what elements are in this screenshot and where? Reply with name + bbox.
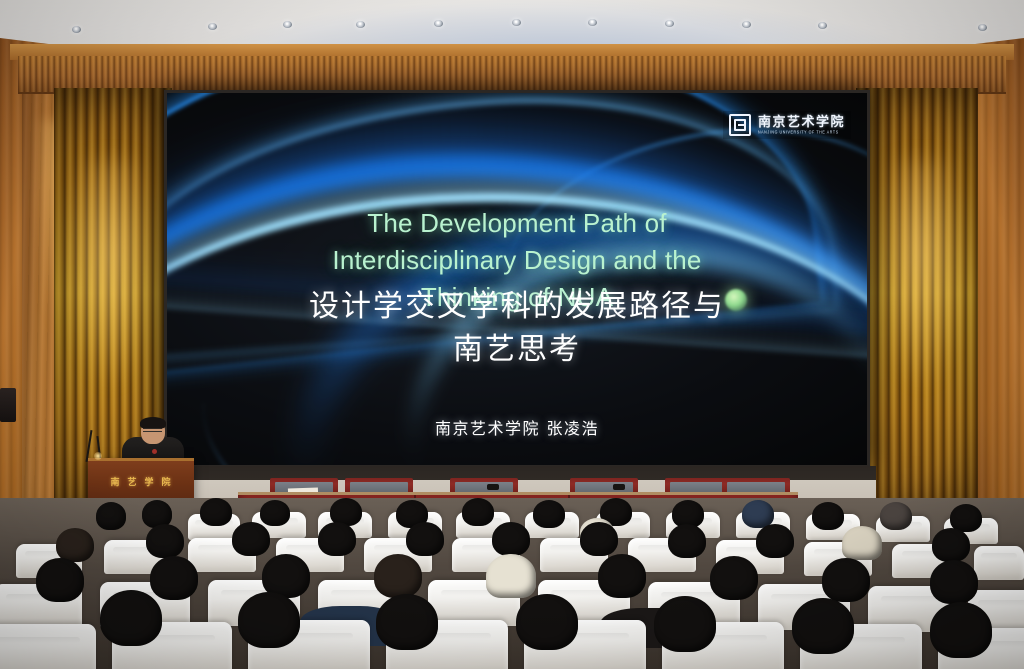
audience-head bbox=[96, 502, 126, 530]
slide-title-en-line: The Development Path of bbox=[167, 205, 867, 242]
slide-title-chinese: 设计学交叉学科的发展路径与 南艺思考 bbox=[167, 285, 867, 371]
audience-head bbox=[932, 528, 970, 562]
presenter-badge bbox=[152, 449, 157, 454]
ceiling-light-icon bbox=[588, 19, 597, 26]
audience-head bbox=[232, 522, 270, 556]
auditorium-scene: 南京艺术学院 NANJING UNIVERSITY OF THE ARTS Th… bbox=[0, 0, 1024, 669]
podium-plate-char: 学 bbox=[145, 475, 155, 488]
slide-presenter-line: 南京艺术学院 张凌浩 bbox=[167, 415, 867, 439]
audience-head bbox=[200, 498, 232, 526]
audience-head bbox=[376, 594, 438, 650]
audience-head bbox=[710, 556, 758, 600]
audience-head-with-cap bbox=[486, 554, 536, 598]
presenter-glasses-icon bbox=[143, 428, 162, 432]
blue-light-streak bbox=[190, 363, 867, 465]
audience-head bbox=[56, 528, 94, 562]
audience-head bbox=[150, 556, 198, 600]
audience-head bbox=[406, 522, 444, 556]
audience-head bbox=[100, 590, 162, 646]
podium-plate-char: 南 bbox=[110, 475, 120, 488]
audience-head bbox=[668, 524, 706, 558]
projection-screen-frame: 南京艺术学院 NANJING UNIVERSITY OF THE ARTS Th… bbox=[164, 90, 870, 468]
podium-nameplate: 南 艺 学 院 bbox=[98, 471, 184, 491]
ceiling-light-icon bbox=[356, 21, 365, 28]
logo-name-en: NANJING UNIVERSITY OF THE ARTS bbox=[758, 131, 845, 136]
ceiling-light-icon bbox=[72, 26, 81, 33]
audience-head bbox=[880, 502, 912, 530]
audience-head bbox=[318, 522, 356, 556]
ceiling-light-icon bbox=[283, 21, 292, 28]
audience-head bbox=[462, 498, 494, 526]
audience-head bbox=[930, 560, 978, 604]
audience-head bbox=[580, 522, 618, 556]
ceiling-light-icon bbox=[434, 20, 443, 27]
slide-university-logo: 南京艺术学院 NANJING UNIVERSITY OF THE ARTS bbox=[723, 111, 851, 139]
ceiling-light-icon bbox=[208, 23, 217, 30]
audience-head-with-cap bbox=[842, 526, 882, 560]
logo-name-cn: 南京艺术学院 bbox=[758, 115, 845, 128]
slide-title-english: The Development Path of Interdisciplinar… bbox=[167, 205, 867, 316]
projection-screen: 南京艺术学院 NANJING UNIVERSITY OF THE ARTS Th… bbox=[167, 93, 867, 465]
ceiling-light-icon bbox=[742, 21, 751, 28]
slide-title-cn-line: 设计学交叉学科的发展路径与 bbox=[167, 285, 867, 328]
audience-head bbox=[146, 524, 184, 558]
stage-curtain-right bbox=[856, 88, 978, 516]
ceiling-light-icon bbox=[978, 24, 987, 31]
audience-head bbox=[516, 594, 578, 650]
audience-head bbox=[598, 554, 646, 598]
green-glow-dot-icon bbox=[725, 289, 747, 311]
audience-head bbox=[374, 554, 422, 598]
audience-seat bbox=[0, 624, 96, 669]
table-microphone-icon bbox=[613, 484, 625, 490]
wall-speaker-icon bbox=[0, 388, 16, 422]
audience-head bbox=[36, 558, 84, 602]
ceiling-light-icon bbox=[512, 19, 521, 26]
audience-area bbox=[0, 498, 1024, 669]
podium-lamp-icon bbox=[94, 452, 102, 460]
audience-head bbox=[260, 500, 290, 526]
audience-head bbox=[654, 596, 716, 652]
blue-light-streak bbox=[167, 304, 867, 465]
audience-head bbox=[238, 592, 300, 648]
audience-head bbox=[812, 502, 844, 530]
slide-title-en-line: Thinking of NUA bbox=[167, 279, 867, 316]
audience-head bbox=[930, 602, 992, 658]
podium-plate-char: 院 bbox=[162, 475, 172, 488]
audience-head bbox=[492, 522, 530, 556]
podium-plate-char: 艺 bbox=[127, 475, 137, 488]
table-microphone-icon bbox=[487, 484, 499, 490]
ceiling-light-icon bbox=[818, 22, 827, 29]
audience-head bbox=[792, 598, 854, 654]
audience-head bbox=[822, 558, 870, 602]
audience-head bbox=[533, 500, 565, 528]
slide-title-en-line: Interdisciplinary Design and the bbox=[167, 242, 867, 279]
audience-head bbox=[756, 524, 794, 558]
nua-emblem-icon bbox=[729, 114, 751, 136]
slide-title-cn-line: 南艺思考 bbox=[167, 328, 867, 371]
ceiling-light-icon bbox=[665, 20, 674, 27]
audience-seat bbox=[974, 546, 1024, 580]
